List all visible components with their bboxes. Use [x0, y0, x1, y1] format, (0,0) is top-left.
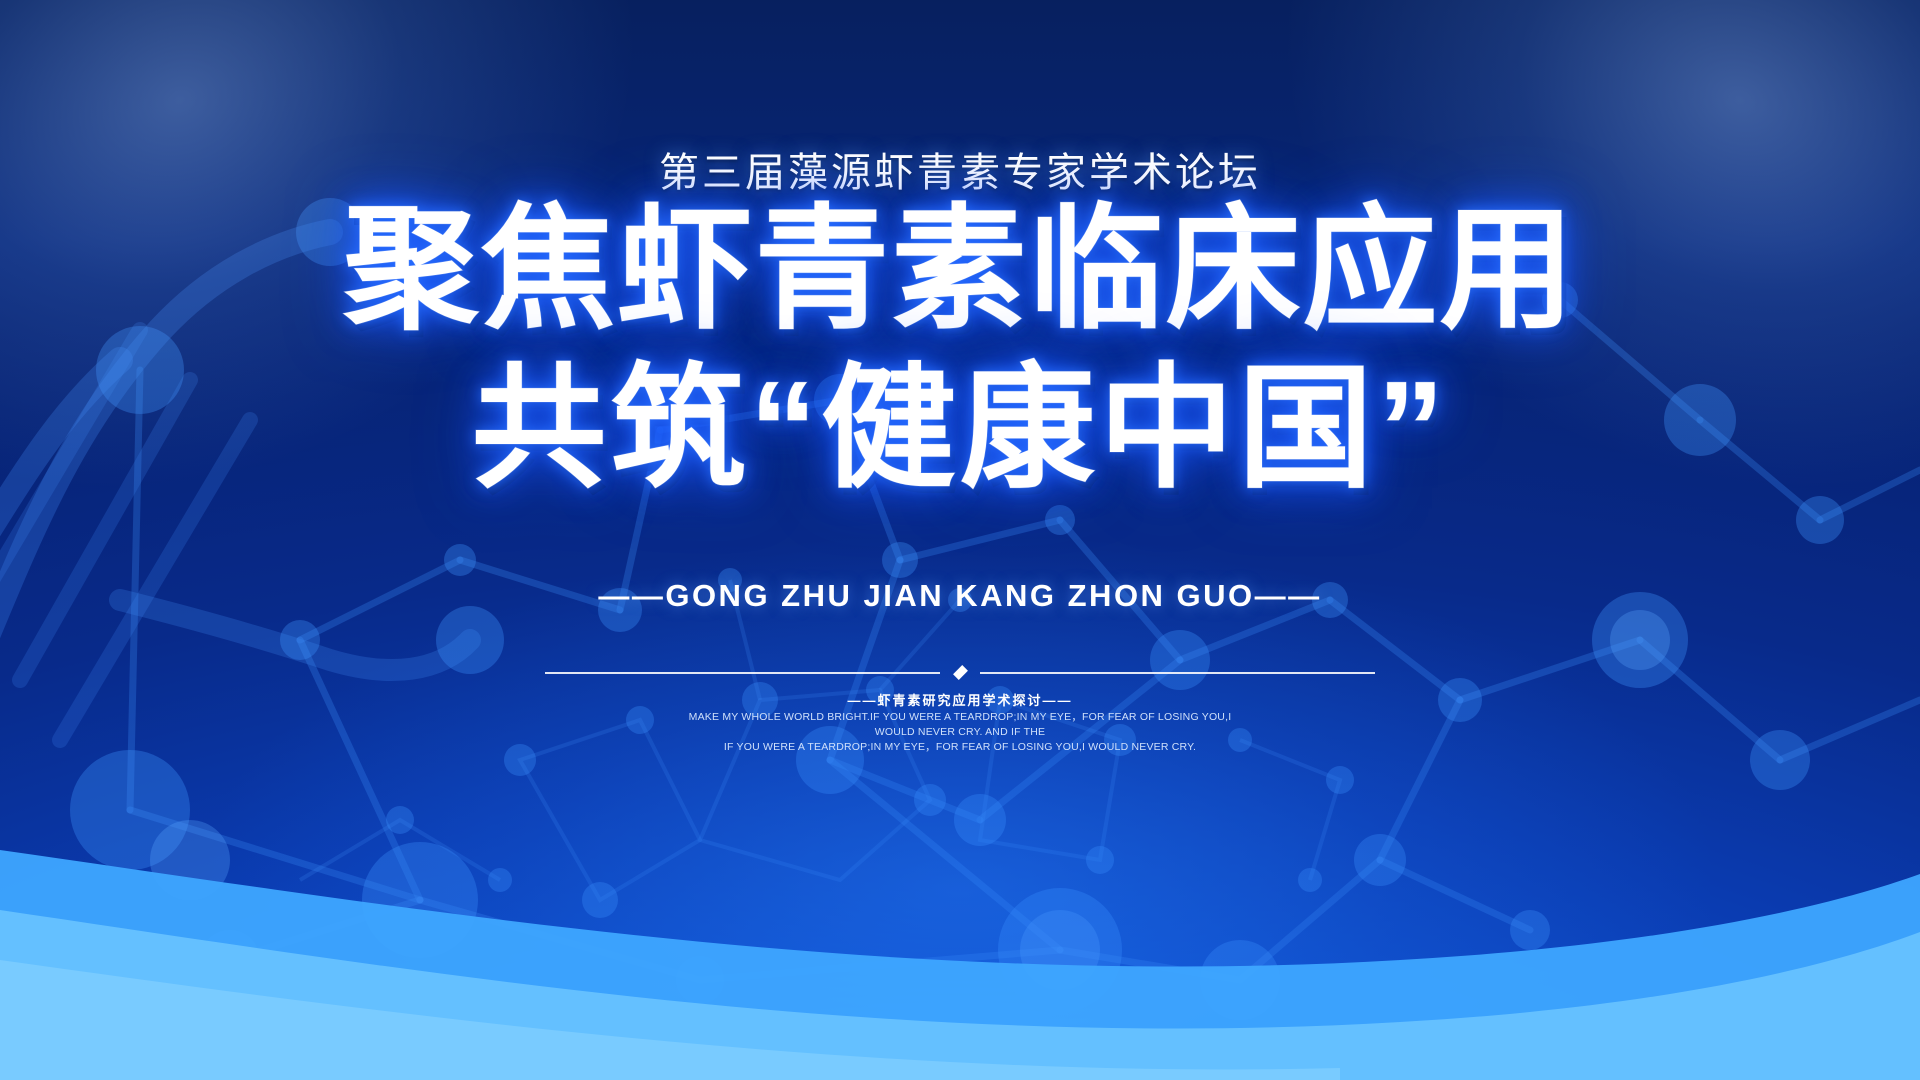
fineprint-line-1: MAKE MY WHOLE WORLD BRIGHT.IF YOU WERE A… — [680, 710, 1240, 740]
poster-canvas: 第三届藻源虾青素专家学术论坛 聚焦虾青素临床应用 共筑“健康中国” ——GONG… — [0, 0, 1920, 1080]
topic-subnote: ——虾青素研究应用学术探讨—— — [0, 690, 1920, 709]
divider-rule-left — [545, 672, 940, 674]
main-title-line-1: 聚焦虾青素临床应用 — [0, 190, 1920, 349]
pinyin-subtitle: ——GONG ZHU JIAN KANG ZHON GUO—— — [0, 578, 1920, 614]
diamond-icon — [953, 665, 968, 680]
fineprint-block: MAKE MY WHOLE WORLD BRIGHT.IF YOU WERE A… — [680, 710, 1240, 756]
divider-rule-right — [980, 672, 1375, 674]
poster-content: 第三届藻源虾青素专家学术论坛 聚焦虾青素临床应用 共筑“健康中国” ——GONG… — [0, 0, 1920, 1080]
divider — [545, 666, 1375, 680]
fineprint-line-2: IF YOU WERE A TEARDROP;IN MY EYE，FOR FEA… — [680, 740, 1240, 755]
main-title-block: 聚焦虾青素临床应用 共筑“健康中国” — [0, 190, 1920, 509]
main-title-line-2: 共筑“健康中国” — [0, 349, 1920, 508]
